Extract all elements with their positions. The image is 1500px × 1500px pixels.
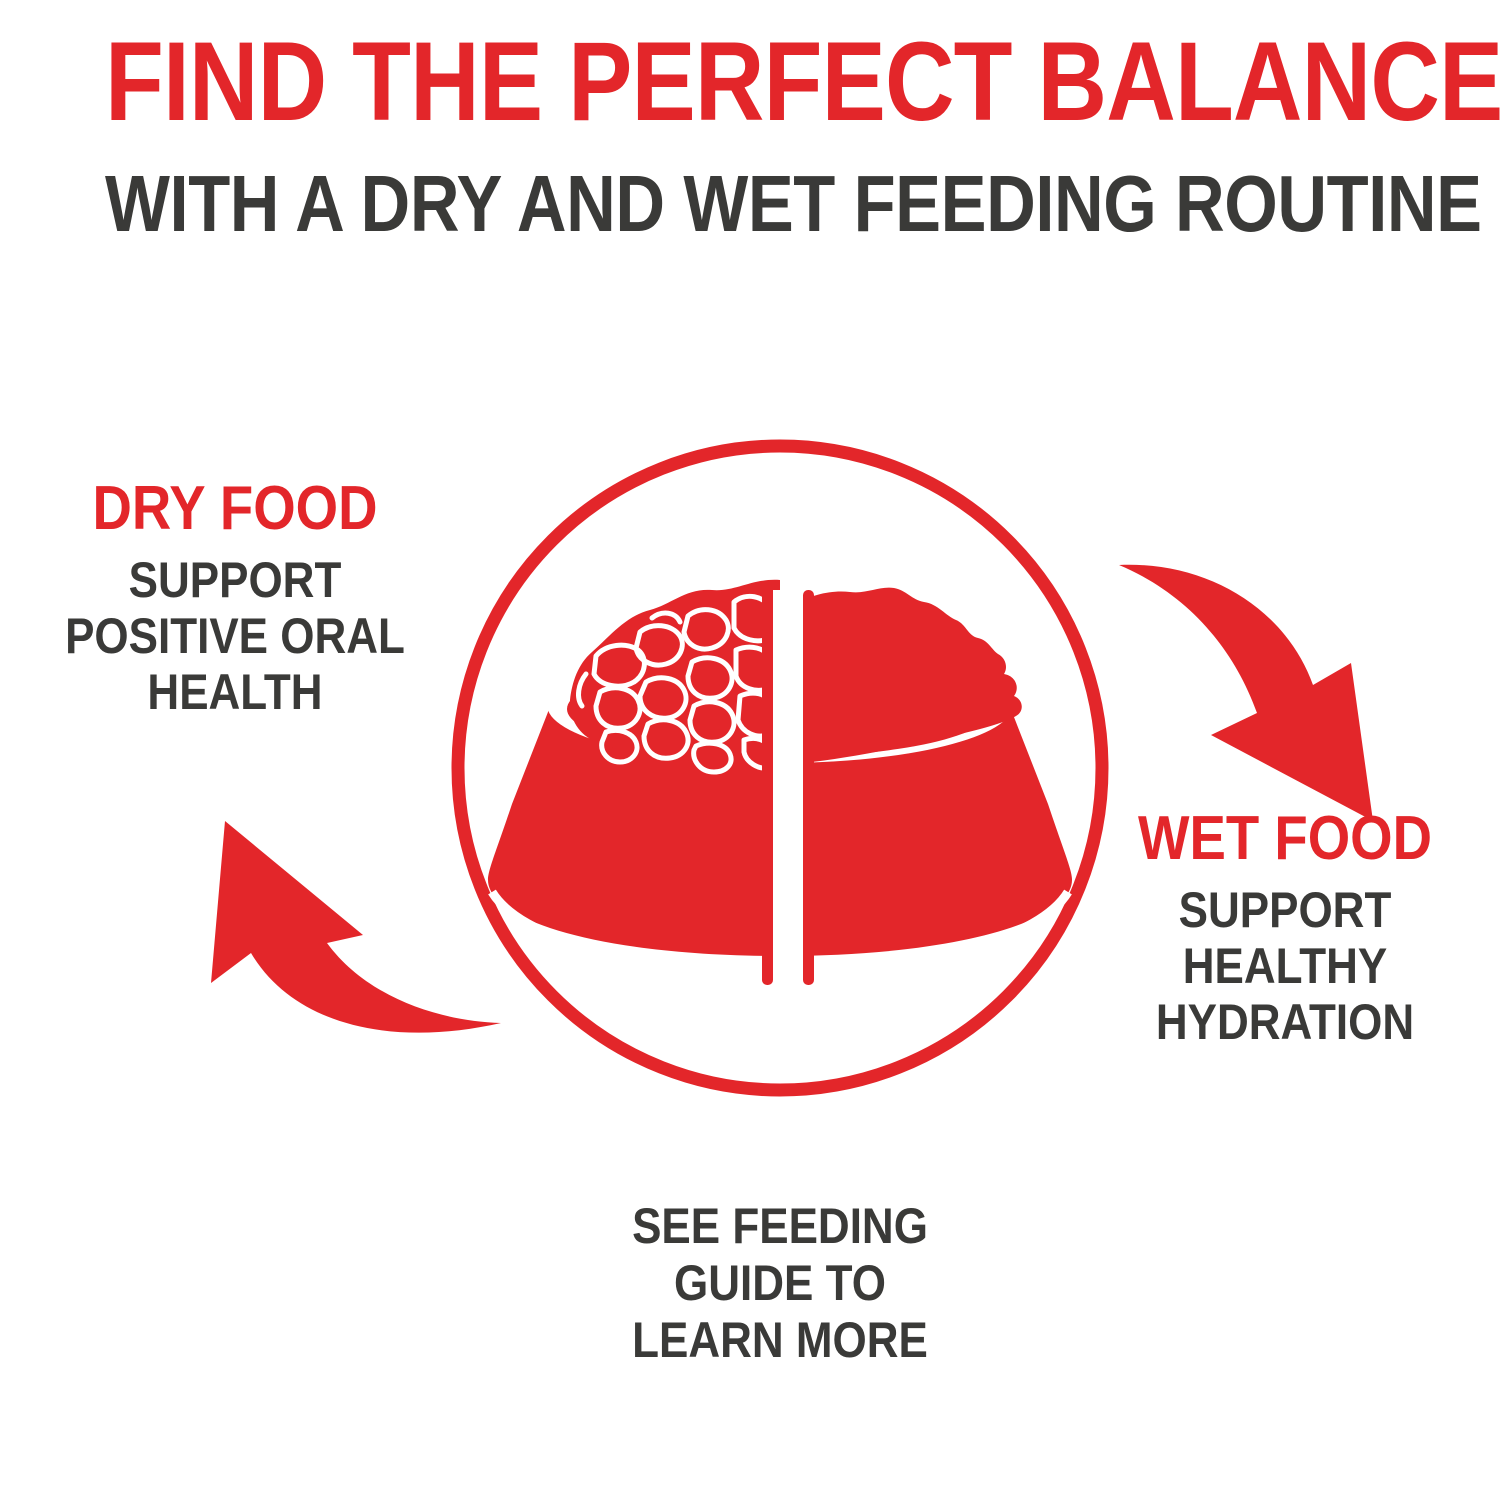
wet-food-title: WET FOOD xyxy=(1100,808,1470,870)
wet-food-callout: WET FOOD SUPPORT HEALTHY HYDRATION xyxy=(1075,808,1495,1050)
divider-gap xyxy=(773,590,803,985)
dry-kibble-fill xyxy=(570,580,780,772)
page-title: FIND THE PERFECT BALANCE xyxy=(105,26,1395,138)
arrow-right-shape xyxy=(1119,565,1373,821)
arrow-left-shape xyxy=(211,821,501,1033)
dry-food-body-line-3: HEALTH xyxy=(46,664,424,720)
dry-food-callout: DRY FOOD SUPPORT POSITIVE ORAL HEALTH xyxy=(20,478,450,720)
pet-food-bowl xyxy=(488,580,1072,985)
caption-line-1: SEE FEEDING xyxy=(551,1198,1009,1255)
dry-food-title: DRY FOOD xyxy=(46,478,424,540)
wet-food-body-line-2: HYDRATION xyxy=(1100,994,1470,1050)
dry-food-body-line-1: SUPPORT xyxy=(46,552,424,608)
footer xyxy=(0,1385,1500,1500)
poster-canvas: FIND THE PERFECT BALANCE WITH A DRY AND … xyxy=(0,0,1500,1500)
feeding-bowl-graphic xyxy=(400,400,1160,1140)
wet-food-body: SUPPORT HEALTHY HYDRATION xyxy=(1100,882,1470,1050)
dry-food-body-line-2: POSITIVE ORAL xyxy=(46,608,424,664)
headline-block: FIND THE PERFECT BALANCE WITH A DRY AND … xyxy=(0,26,1500,244)
dry-food-body: SUPPORT POSITIVE ORAL HEALTH xyxy=(46,552,424,720)
curved-arrow-down-right xyxy=(1115,545,1415,825)
caption-line-3: LEARN MORE xyxy=(551,1312,1009,1369)
caption-line-2: GUIDE TO xyxy=(551,1255,1009,1312)
page-subtitle: WITH A DRY AND WET FEEDING ROUTINE xyxy=(105,164,1395,244)
feeding-guide-caption: SEE FEEDING GUIDE TO LEARN MORE xyxy=(520,1198,1040,1369)
vertical-split-divider xyxy=(762,590,814,985)
divider-bar-right xyxy=(803,590,814,985)
divider-bar-left xyxy=(762,590,773,985)
wet-food-body-line-1: SUPPORT HEALTHY xyxy=(1100,882,1470,994)
curved-arrow-up-left xyxy=(185,775,505,1050)
